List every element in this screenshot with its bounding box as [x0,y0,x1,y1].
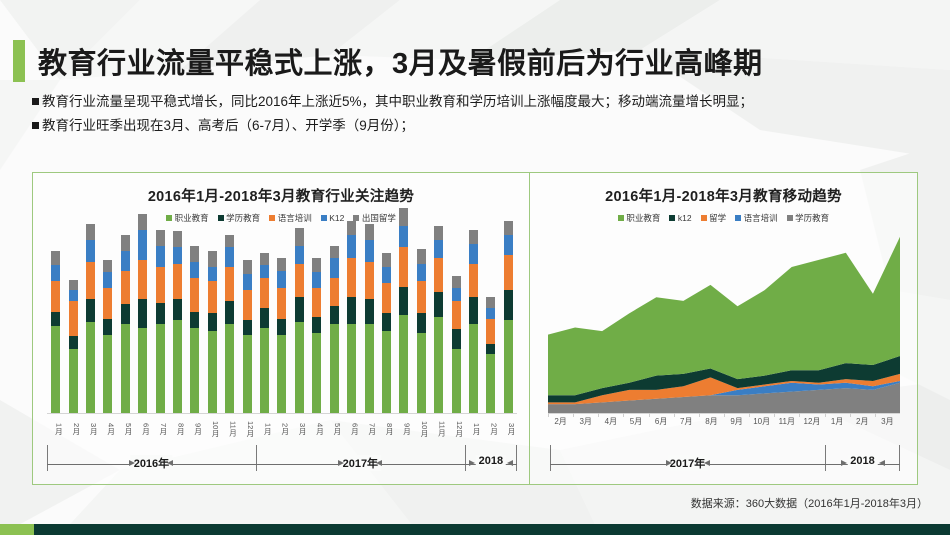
bar-segment [469,324,478,413]
x-axis-tick-label: 4月 [308,416,325,442]
bar-segment [277,271,286,289]
bar-segment [69,280,78,291]
left-chart-panel: 2016年1月-2018年3月教育行业关注趋势 职业教育学历教育语言培训K12出… [33,173,529,484]
footer-bar [0,524,950,535]
stacked-bar [486,297,495,413]
bar-column [465,235,482,413]
bar-segment [330,306,339,324]
bar-column [134,235,151,413]
x-axis-tick-label: 12月 [238,416,255,442]
ruler-arrow-right-icon [338,460,344,466]
bar-segment [330,246,339,258]
data-source-note: 数据来源：360大数据（2016年1月-2018年3月） [691,495,928,511]
bar-segment [312,272,321,288]
legend-item: 语言培训 [269,212,312,224]
legend-item: 语言培训 [735,212,778,224]
bar-segment [103,335,112,413]
ruler-arrow-right-icon [129,460,135,466]
bar-segment [243,260,252,274]
x-axis-tick-label: 3月 [82,416,99,442]
legend-label: 语言培训 [744,212,778,224]
x-axis-tick-label: 7月 [360,416,377,442]
bar-segment [277,258,286,270]
bar-segment [86,299,95,322]
ruler-tick [825,445,826,471]
bar-segment [86,240,95,261]
bar-segment [295,228,304,246]
bar-segment [452,349,461,413]
bar-segment [225,301,234,324]
bar-segment [260,253,269,265]
bar-segment [382,283,391,313]
legend-label: K12 [329,213,344,223]
x-axis-tick-label: 9月 [395,416,412,442]
x-axis-tick-label: 3月 [500,416,517,442]
area-series-group [548,235,900,413]
ruler-arrow-left-icon [704,460,710,466]
legend-swatch-icon [166,215,172,221]
bar-segment [103,260,112,272]
bar-column [82,235,99,413]
right-year-ruler: 2017年2018 [550,445,900,475]
ruler-tick [550,445,551,471]
bar-segment [347,324,356,413]
bar-segment [469,230,478,244]
bar-segment [347,235,356,258]
ruler-year-label: 2018 [476,455,506,467]
bar-segment [452,329,461,349]
ruler-arrow-left-icon [376,460,382,466]
bullet-list: 教育行业流量呈现平稳式增长，同比2016年上涨近5%，其中职业教育和学历培训上涨… [32,92,932,140]
bar-segment [103,288,112,318]
bar-column [326,235,343,413]
stacked-bar [312,258,321,413]
bar-column [413,235,430,413]
bar-column [99,235,116,413]
bar-segment [295,264,304,298]
legend-swatch-icon [218,215,224,221]
bar-segment [260,328,269,413]
bar-segment [69,336,78,348]
legend-label: 学历教育 [226,212,260,224]
bar-segment [103,319,112,335]
ruler-year-label: 2018 [847,455,877,467]
charts-container: 2016年1月-2018年3月教育行业关注趋势 职业教育学历教育语言培训K12出… [32,172,918,485]
ruler-year-label: 2017年 [340,455,381,471]
ruler-arrow-right-icon [469,460,475,466]
bar-segment [365,324,374,413]
bar-segment [399,226,408,247]
stacked-bar [277,258,286,413]
x-axis-tick-label: 7月 [674,416,699,427]
ruler-arrow-right-icon [666,460,672,466]
stacked-bar [208,251,217,413]
bar-segment [330,324,339,413]
bar-segment [190,262,199,278]
bar-segment [138,214,147,230]
bar-segment [51,281,60,311]
x-axis-tick-label: 4月 [598,416,623,427]
bar-segment [190,246,199,262]
bar-segment [347,258,356,297]
bar-segment [208,331,217,413]
bar-column [117,235,134,413]
legend-swatch-icon [701,215,707,221]
bar-segment [434,258,443,292]
bar-segment [486,297,495,308]
bar-segment [69,349,78,413]
legend-item: 职业教育 [166,212,209,224]
bar-column [151,235,168,413]
x-axis-tick-label: 5月 [117,416,134,442]
bar-segment [225,247,234,267]
bar-segment [225,324,234,413]
ruler-tick [899,445,900,471]
bullet-item: 教育行业旺季出现在3月、高考后（6-7月）、开学季（9月份）； [32,116,932,137]
bar-column [395,235,412,413]
bar-segment [103,272,112,288]
left-chart-title: 2016年1月-2018年3月教育行业关注趋势 [33,173,529,206]
x-axis-tick-label: 1月 [256,416,273,442]
bar-segment [330,278,339,306]
bar-segment [277,319,286,335]
x-axis-tick-label: 8月 [169,416,186,442]
bar-column [221,235,238,413]
bar-segment [51,312,60,326]
x-axis-tick-label: 12月 [799,416,824,427]
bar-column [500,235,517,413]
bar-segment [365,262,374,299]
x-axis-tick-label: 11月 [221,416,238,442]
x-axis-tick-label: 9月 [724,416,749,427]
x-axis-tick-label: 2月 [548,416,573,427]
bar-segment [173,320,182,413]
bar-column [273,235,290,413]
bar-segment [399,208,408,226]
bar-segment [365,240,374,261]
x-axis-tick-label: 8月 [378,416,395,442]
x-axis-tick-label: 12月 [447,416,464,442]
right-chart-title: 2016年1月-2018年3月教育移动趋势 [530,173,917,206]
bar-segment [382,313,391,331]
bar-segment [173,247,182,263]
bar-segment [156,246,165,267]
x-axis-tick-label: 1月 [825,416,850,427]
bar-segment [434,317,443,413]
stacked-bar [295,228,304,413]
bar-segment [452,276,461,288]
bar-segment [173,299,182,320]
stacked-bar [434,226,443,413]
bar-segment [156,324,165,413]
ruler-tick [47,445,48,471]
x-axis-tick-label: 4月 [99,416,116,442]
legend-item: 学历教育 [787,212,830,224]
x-axis-tick-label: 5月 [326,416,343,442]
bar-segment [417,313,426,333]
x-axis-tick-label: 11月 [774,416,799,427]
bar-column [186,235,203,413]
bar-column [204,235,221,413]
left-chart-plot [47,235,517,413]
bar-segment [121,235,130,251]
bar-segment [51,326,60,413]
bar-segment [243,335,252,413]
page-title: 教育行业流量平稳式上涨，3月及暑假前后为行业高峰期 [38,40,763,82]
stacked-bar [86,224,95,413]
legend-swatch-icon [269,215,275,221]
bar-segment [434,292,443,317]
legend-swatch-icon [735,215,741,221]
bar-segment [173,231,182,247]
ruler-arrow-left-icon [167,460,173,466]
left-x-axis-line [47,413,517,414]
bullet-square-icon [32,122,39,129]
bar-segment [138,299,147,327]
x-axis-tick-label: 6月 [649,416,674,427]
right-x-axis-labels: 2月3月4月5月6月7月8月9月10月11月12月1月2月3月 [548,416,900,427]
bar-segment [486,308,495,319]
bullet-text: 教育行业流量呈现平稳式增长，同比2016年上涨近5%，其中职业教育和学历培训上涨… [42,92,753,113]
bar-segment [434,226,443,240]
bar-segment [277,288,286,318]
footer-accent [0,524,34,535]
bullet-item: 教育行业流量呈现平稳式增长，同比2016年上涨近5%，其中职业教育和学历培训上涨… [32,92,932,113]
ruler-year-label: 2017年 [667,455,708,471]
bar-segment [399,315,408,413]
bar-segment [260,278,269,308]
bar-segment [86,262,95,299]
bar-column [343,235,360,413]
bar-segment [504,320,513,413]
stacked-bar [156,230,165,413]
legend-item: 留学 [701,212,727,224]
x-axis-tick-label: 3月 [875,416,900,427]
bar-segment [295,297,304,322]
stacked-bar [121,235,130,413]
bar-segment [208,313,217,331]
legend-label: 学历教育 [795,212,829,224]
ruler-year-label: 2016年 [131,455,172,471]
bar-segment [138,260,147,299]
bar-segment [138,328,147,413]
left-x-axis-labels: 1月2月3月4月5月6月7月8月9月10月11月12月1月2月3月4月5月6月7… [47,416,517,442]
bar-segment [469,297,478,324]
bar-segment [295,322,304,413]
bullet-square-icon [32,98,39,105]
bar-column [47,235,64,413]
bar-segment [312,317,321,333]
stacked-bar [330,246,339,413]
bar-segment [504,290,513,320]
right-chart-panel: 2016年1月-2018年3月教育移动趋势 职业教育k12留学语言培训学历教育 … [530,173,917,484]
legend-label: 职业教育 [626,212,660,224]
right-chart-legend: 职业教育k12留学语言培训学历教育 [530,212,917,224]
bar-segment [51,265,60,281]
legend-label: 职业教育 [175,212,209,224]
bar-segment [365,224,374,240]
stacked-bar [347,221,356,413]
legend-item: k12 [669,213,691,223]
ruler-arrow-right-icon [841,460,847,466]
x-axis-tick-label: 6月 [134,416,151,442]
bar-column [360,235,377,413]
bar-column [378,235,395,413]
bar-segment [365,299,374,324]
bar-segment [156,267,165,303]
x-axis-tick-label: 10月 [413,416,430,442]
bar-segment [347,221,356,235]
bar-segment [86,224,95,240]
legend-label: 出国留学 [362,212,396,224]
bar-series-group [47,235,517,413]
stacked-bar [504,221,513,413]
x-axis-tick-label: 7月 [151,416,168,442]
bar-segment [382,253,391,267]
legend-swatch-icon [321,215,327,221]
bar-segment [243,320,252,334]
bar-segment [330,258,339,278]
bar-segment [208,281,217,313]
stacked-bar [51,251,60,413]
x-axis-tick-label: 2月 [64,416,81,442]
bar-segment [69,301,78,337]
ruler-tick [465,445,466,471]
bar-segment [295,246,304,264]
slide-root: 教育行业流量平稳式上涨，3月及暑假前后为行业高峰期 教育行业流量呈现平稳式增长，… [0,0,950,535]
right-chart-plot [548,235,900,413]
bar-segment [399,247,408,286]
bar-segment [452,301,461,329]
bar-segment [190,328,199,413]
bar-segment [277,335,286,413]
bar-column [238,235,255,413]
bar-segment [312,333,321,413]
stacked-bar [399,208,408,413]
left-year-ruler: 2016年2017年2018 [47,445,517,475]
bar-segment [504,235,513,255]
bar-column [64,235,81,413]
bar-segment [173,264,182,300]
bar-column [447,235,464,413]
legend-label: 语言培训 [278,212,312,224]
legend-item: 出国留学 [353,212,396,224]
left-chart-legend: 职业教育学历教育语言培训K12出国留学 [33,212,529,224]
bar-segment [121,324,130,413]
bar-segment [243,274,252,290]
bar-column [169,235,186,413]
bar-segment [469,244,478,264]
legend-swatch-icon [787,215,793,221]
x-axis-tick-label: 5月 [623,416,648,427]
bar-segment [417,333,426,413]
stacked-bar [382,253,391,413]
x-axis-tick-label: 2月 [482,416,499,442]
legend-label: 留学 [709,212,726,224]
bar-segment [51,251,60,265]
bar-segment [225,267,234,301]
bar-segment [399,287,408,315]
bar-segment [486,319,495,344]
stacked-bar [190,246,199,413]
x-axis-tick-label: 2月 [273,416,290,442]
bar-segment [469,264,478,298]
x-axis-tick-label: 11月 [430,416,447,442]
stacked-bar [103,260,112,413]
stacked-bar [365,224,374,413]
bar-column [430,235,447,413]
stacked-bar [260,253,269,413]
legend-item: 职业教育 [618,212,661,224]
bar-segment [452,288,461,300]
bar-segment [156,230,165,246]
bar-segment [382,267,391,283]
bar-segment [260,265,269,277]
bar-segment [86,322,95,413]
bar-segment [312,258,321,272]
bar-segment [417,249,426,263]
title-accent-bar [13,40,25,82]
bar-segment [347,297,356,324]
bar-segment [156,303,165,324]
ruler-arrow-left-icon [879,460,885,466]
stacked-bar [452,276,461,413]
legend-swatch-icon [618,215,624,221]
bar-segment [190,278,199,312]
stacked-bar [69,280,78,413]
legend-swatch-icon [669,215,675,221]
ruler-tick [516,445,517,471]
x-axis-tick-label: 1月 [465,416,482,442]
ruler-arrow-left-icon [507,460,513,466]
bar-column [256,235,273,413]
bar-segment [434,240,443,258]
bar-segment [504,221,513,235]
x-axis-tick-label: 6月 [343,416,360,442]
bar-segment [121,251,130,271]
x-axis-tick-label: 9月 [186,416,203,442]
bar-segment [504,255,513,291]
stacked-bar [225,235,234,413]
x-axis-tick-label: 1月 [47,416,64,442]
x-axis-tick-label: 3月 [291,416,308,442]
x-axis-tick-label: 2月 [850,416,875,427]
bar-segment [208,251,217,267]
stacked-bar [469,230,478,413]
bar-column [482,235,499,413]
bar-column [291,235,308,413]
bar-segment [417,281,426,313]
x-axis-tick-label: 10月 [204,416,221,442]
stacked-bar [138,214,147,413]
stacked-bar [173,231,182,413]
bar-segment [225,235,234,247]
bar-segment [69,290,78,301]
bar-segment [138,230,147,260]
bar-segment [121,304,130,324]
bar-segment [486,354,495,413]
bar-segment [382,331,391,413]
stacked-bar [417,249,426,413]
x-axis-tick-label: 8月 [699,416,724,427]
bar-segment [486,344,495,355]
stacked-bar [243,260,252,413]
ruler-tick [256,445,257,471]
bullet-text: 教育行业旺季出现在3月、高考后（6-7月）、开学季（9月份）； [42,116,414,137]
legend-item: 学历教育 [218,212,261,224]
x-axis-tick-label: 3月 [573,416,598,427]
bar-segment [417,264,426,282]
